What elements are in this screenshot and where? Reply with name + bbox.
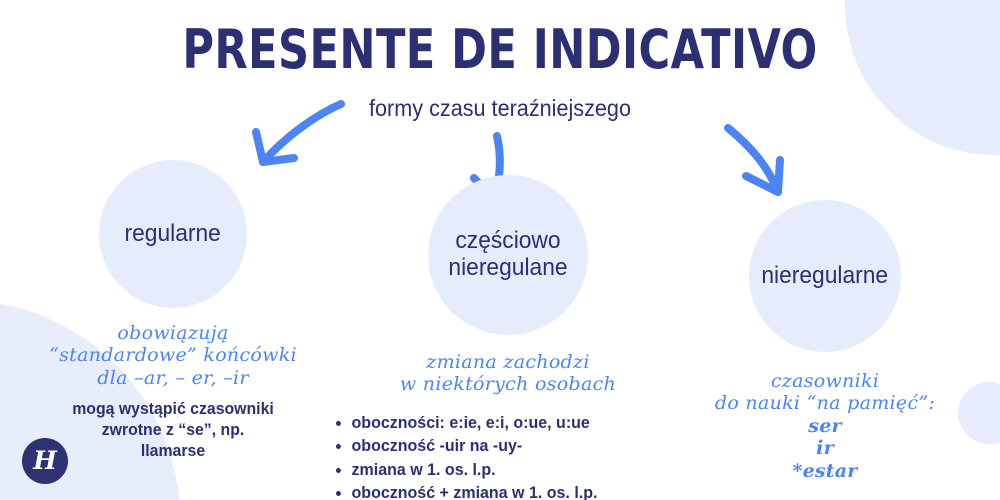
bubble-regular: regularne: [99, 160, 247, 308]
handwritten-line: zmiana zachodzi: [318, 351, 698, 373]
handwritten-note-regular: obowiązują “standardowe” końcówki dla –a…: [18, 322, 328, 389]
infographic-canvas: PRESENTE DE INDICATIVO formy czasu teraź…: [0, 0, 1000, 500]
body-line: zwrotne z “se”, np.: [24, 420, 322, 441]
logo-monogram-icon: H: [33, 448, 57, 473]
handwritten-note-irregular: czasowniki do nauki “na pamięć”: ser ir …: [690, 370, 960, 482]
column-irregular: nieregularne czasowniki do nauki “na pam…: [690, 200, 960, 482]
handwritten-line: dla –ar, – er, –ir: [18, 367, 328, 389]
body-line: mogą wystąpić czasowniki: [24, 399, 322, 420]
handwritten-note-partial: zmiana zachodzi w niektórych osobach: [318, 351, 698, 396]
handwritten-line: w niektórych osobach: [318, 373, 698, 395]
bubble-regular-label: regularne: [125, 221, 221, 248]
handwritten-line: do nauki “na pamięć”:: [690, 392, 960, 414]
handwritten-line: obowiązują: [18, 322, 328, 344]
verb-item: ir: [690, 437, 960, 459]
list-item: oboczność -uir na -uy-: [336, 435, 687, 458]
verb-item: *estar: [690, 460, 960, 482]
page-title: PRESENTE DE INDICATIVO: [100, 22, 900, 79]
page-subtitle: formy czasu teraźniejszego: [30, 95, 970, 122]
list-item: oboczność + zmiana w 1. os. l.p.: [336, 482, 687, 500]
column-regular: regularne obowiązują “standardowe” końcó…: [18, 160, 328, 462]
list-item: zmiana w 1. os. l.p.: [336, 459, 687, 482]
verb-item: ser: [690, 415, 960, 437]
bubble-irregular: nieregularne: [749, 200, 901, 352]
bullet-list-partial: oboczności: e:ie, e:i, o:ue, u:ue oboczn…: [318, 412, 698, 500]
bubble-partial: częściowo nieregulane: [428, 175, 588, 335]
column-partial: częściowo nieregulane zmiana zachodzi w …: [318, 175, 698, 500]
handwritten-line: “standardowe” końcówki: [18, 344, 328, 366]
bubble-irregular-label: nieregularne: [762, 263, 889, 290]
handwritten-line: czasowniki: [690, 370, 960, 392]
body-line: llamarse: [24, 441, 322, 462]
list-item: oboczności: e:ie, e:i, o:ue, u:ue: [336, 412, 687, 435]
logo-badge: H: [22, 438, 68, 484]
decorative-circle-right: [958, 382, 1000, 444]
bubble-partial-label: częściowo nieregulane: [432, 228, 584, 282]
body-copy-regular: mogą wystąpić czasowniki zwrotne z “se”,…: [24, 399, 322, 461]
